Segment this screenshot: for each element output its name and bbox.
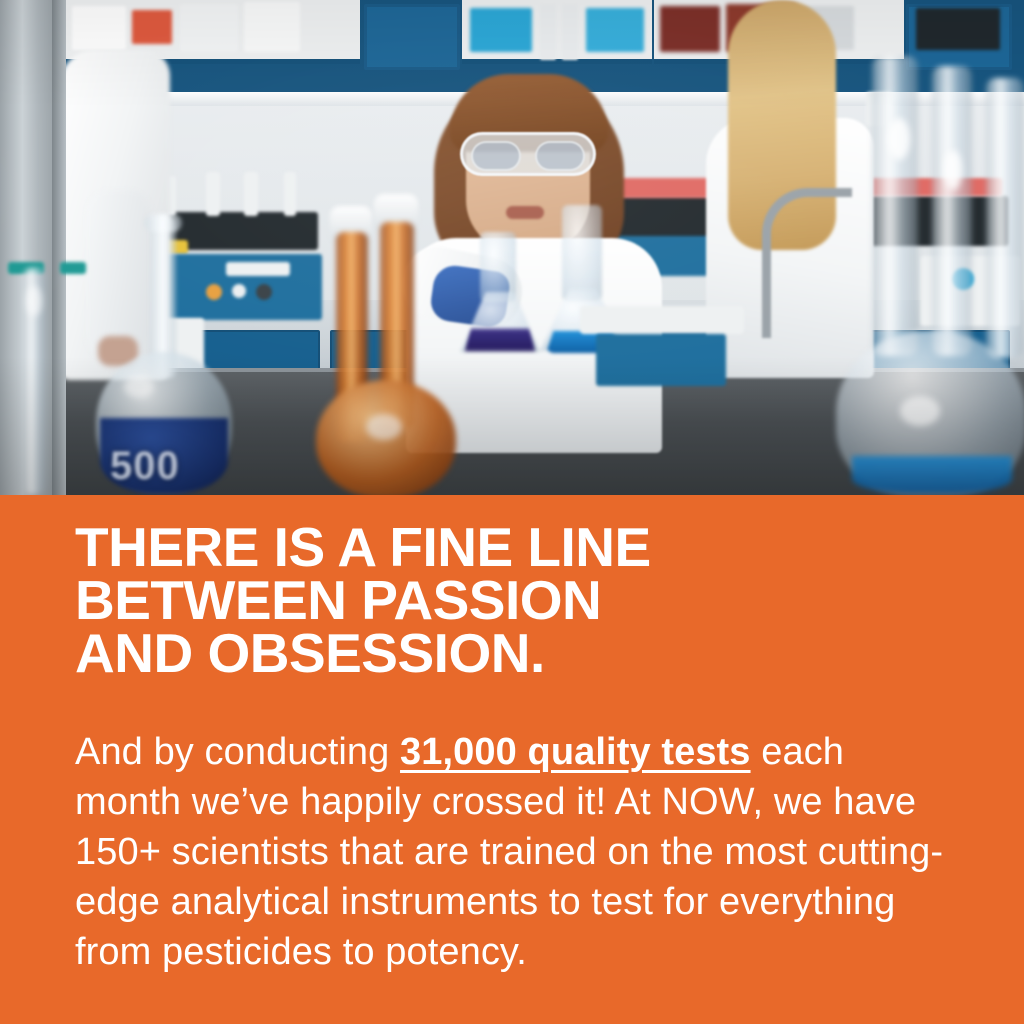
flask-neck-collar xyxy=(144,214,182,232)
glass-highlight xyxy=(124,376,154,398)
headline-line-3: AND OBSESSION. xyxy=(75,627,955,680)
shelf-box xyxy=(244,2,300,52)
flask-body xyxy=(562,205,602,301)
glass-highlight xyxy=(366,414,402,440)
shelf-box xyxy=(586,8,644,52)
shelf-box xyxy=(470,8,532,52)
flask-liquid xyxy=(852,456,1012,494)
vial-rack-tube xyxy=(206,172,220,216)
instrument-display xyxy=(226,262,290,276)
headline-line-1: THERE IS A FINE LINE xyxy=(75,521,955,574)
balance-platform xyxy=(580,306,744,334)
stat-quality-tests: 31,000 quality tests xyxy=(400,731,751,773)
shelf-box xyxy=(562,4,578,60)
door-frame-edge xyxy=(52,0,66,495)
body-text-part-1: And by conducting xyxy=(75,731,400,773)
cabinet-door xyxy=(364,4,460,70)
glass-column xyxy=(932,66,972,356)
balance-base xyxy=(596,334,726,386)
glass-highlight xyxy=(888,118,910,160)
gooseneck-faucet xyxy=(762,188,852,338)
glass-highlight xyxy=(900,396,940,426)
headline-line-2: BETWEEN PASSION xyxy=(75,574,955,627)
vial-rack-tube xyxy=(244,172,258,216)
shelf-box xyxy=(540,4,556,60)
instrument-knob xyxy=(232,284,246,298)
goggle-lens xyxy=(471,141,521,171)
flask-body xyxy=(480,232,516,302)
glass-column xyxy=(872,56,918,356)
lab-photo: 500 xyxy=(0,0,1024,495)
glass-highlight xyxy=(944,150,962,190)
vial-rack-tube xyxy=(284,172,296,216)
shelf-box xyxy=(132,10,172,44)
pipette-cap xyxy=(60,262,86,274)
mouth xyxy=(506,206,544,219)
flask-liquid xyxy=(464,328,536,352)
flask-volume-label: 500 xyxy=(110,444,180,489)
instrument-knob xyxy=(256,284,272,300)
promo-card: 500 THERE IS A FINE LINE BETWEEN PASSION… xyxy=(0,0,1024,1024)
safety-goggles xyxy=(460,132,596,176)
shelf-box xyxy=(180,4,238,52)
body-copy: And by conducting 31,000 quality tests e… xyxy=(75,727,955,977)
shelf-box xyxy=(916,8,1000,50)
erlenmeyer-flask xyxy=(460,232,540,358)
glass-column xyxy=(986,78,1024,358)
instrument-knob xyxy=(206,284,222,300)
page-title: THERE IS A FINE LINE BETWEEN PASSION AND… xyxy=(75,521,955,680)
goggle-lens xyxy=(535,141,585,171)
arm xyxy=(86,190,152,360)
glass-highlight xyxy=(26,286,42,316)
orange-text-panel: THERE IS A FINE LINE BETWEEN PASSION AND… xyxy=(0,495,1024,1024)
shelf-box xyxy=(72,6,126,50)
